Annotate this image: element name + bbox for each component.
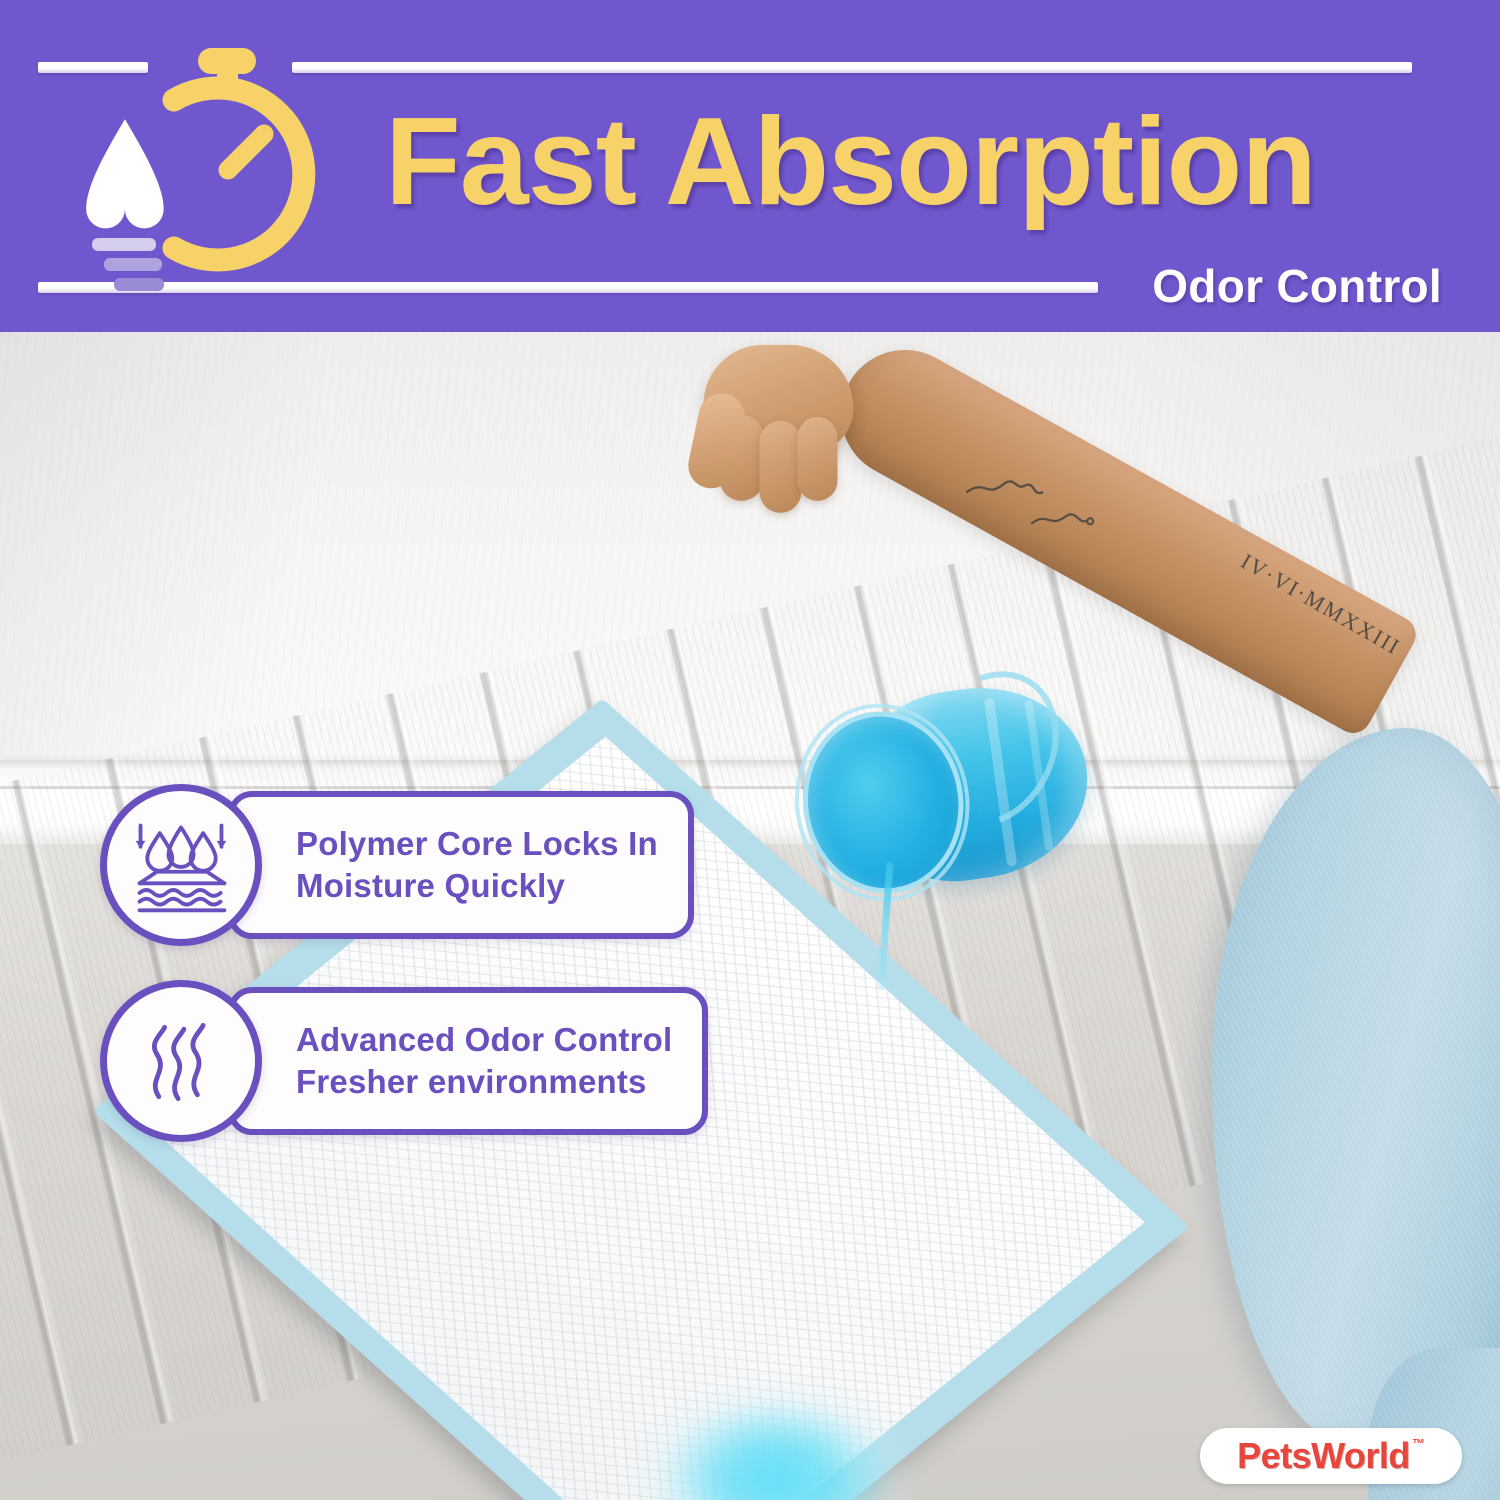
hand: [685, 345, 895, 521]
absorbing-droplets-icon: [100, 784, 262, 946]
feature-line-1: Advanced Odor Control: [296, 1019, 672, 1061]
feature-callout-absorption: Polymer Core Locks In Moisture Quickly: [100, 784, 694, 946]
trademark-symbol: ™: [1412, 1437, 1425, 1450]
page-title: Fast Absorption: [385, 92, 1445, 232]
feature-line-2: Fresher environments: [296, 1061, 672, 1103]
header-subtitle: Odor Control: [1152, 258, 1442, 314]
header-banner: Fast Absorption Odor Control: [0, 0, 1500, 332]
brand-logo: PetsWorld ™: [1200, 1428, 1462, 1484]
blue-measuring-cup: [787, 664, 1113, 914]
product-photo: IV·VI·MMXXIII: [0, 332, 1500, 1500]
finger-middle: [759, 421, 801, 513]
product-feature-image: Fast Absorption Odor Control IV·VI·MMXXI…: [0, 0, 1500, 1500]
feature-callout-odor: Advanced Odor Control Fresher environmen…: [100, 980, 708, 1142]
odor-waves-icon: [100, 980, 262, 1142]
header-rule-right: [292, 62, 1412, 73]
stopwatch-droplet-icon: [78, 42, 338, 292]
feature-line-2: Moisture Quickly: [296, 865, 658, 907]
absorbed-liquid-stain: [620, 1372, 920, 1500]
finger-ring: [797, 417, 837, 501]
feature-text-panel: Advanced Odor Control Fresher environmen…: [228, 987, 708, 1135]
feature-text-panel: Polymer Core Locks In Moisture Quickly: [228, 791, 694, 939]
brand-name: PetsWorld: [1237, 1436, 1410, 1476]
feature-line-1: Polymer Core Locks In: [296, 823, 658, 865]
